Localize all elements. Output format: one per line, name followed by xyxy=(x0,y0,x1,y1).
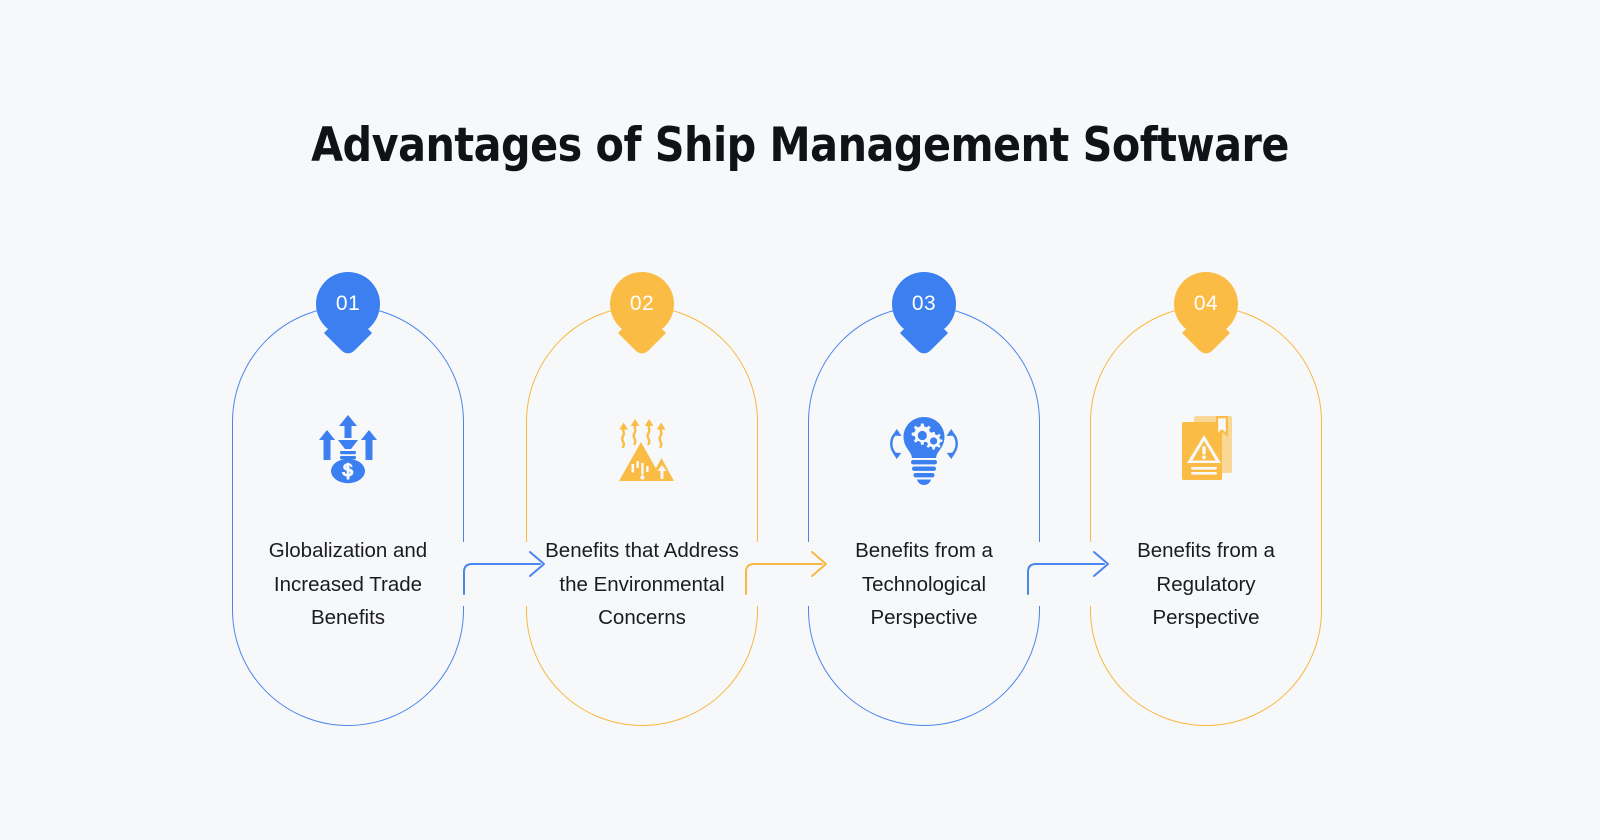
document-warning-bookmark-icon xyxy=(1090,406,1322,490)
infographic-page: Advantages of Ship Management Software 0… xyxy=(0,0,1600,840)
lightbulb-gears-icon xyxy=(808,406,1040,490)
card-outline xyxy=(1090,306,1322,726)
step-number: 04 xyxy=(1174,272,1238,336)
step-badge-04: 04 xyxy=(1174,272,1238,352)
card-outline xyxy=(526,306,758,726)
step-label: Globalization and Increased Trade Benefi… xyxy=(246,534,450,635)
step-label: Benefits that Address the Environmental … xyxy=(540,534,744,635)
step-card-01[interactable]: 01 xyxy=(232,306,464,726)
money-bag-growth-icon xyxy=(232,406,464,490)
connector-arrow-03-04 xyxy=(1024,538,1120,598)
process-flow: 01 xyxy=(232,276,1372,746)
connector-arrow-01-02 xyxy=(460,538,556,598)
step-badge-03: 03 xyxy=(892,272,956,352)
step-card-04[interactable]: 04 xyxy=(1090,306,1322,726)
volcano-emissions-icon xyxy=(526,406,758,490)
step-number: 03 xyxy=(892,272,956,336)
step-number: 01 xyxy=(316,272,380,336)
step-label: Benefits from a Regulatory Perspective xyxy=(1104,534,1308,635)
page-title: Advantages of Ship Management Software xyxy=(96,118,1504,173)
step-badge-01: 01 xyxy=(316,272,380,352)
step-card-02[interactable]: 02 xyxy=(526,306,758,726)
card-outline xyxy=(232,306,464,726)
step-label: Benefits from a Technological Perspectiv… xyxy=(822,534,1026,635)
step-card-03[interactable]: 03 xyxy=(808,306,1040,726)
card-outline xyxy=(808,306,1040,726)
step-number: 02 xyxy=(610,272,674,336)
step-badge-02: 02 xyxy=(610,272,674,352)
connector-arrow-02-03 xyxy=(742,538,838,598)
